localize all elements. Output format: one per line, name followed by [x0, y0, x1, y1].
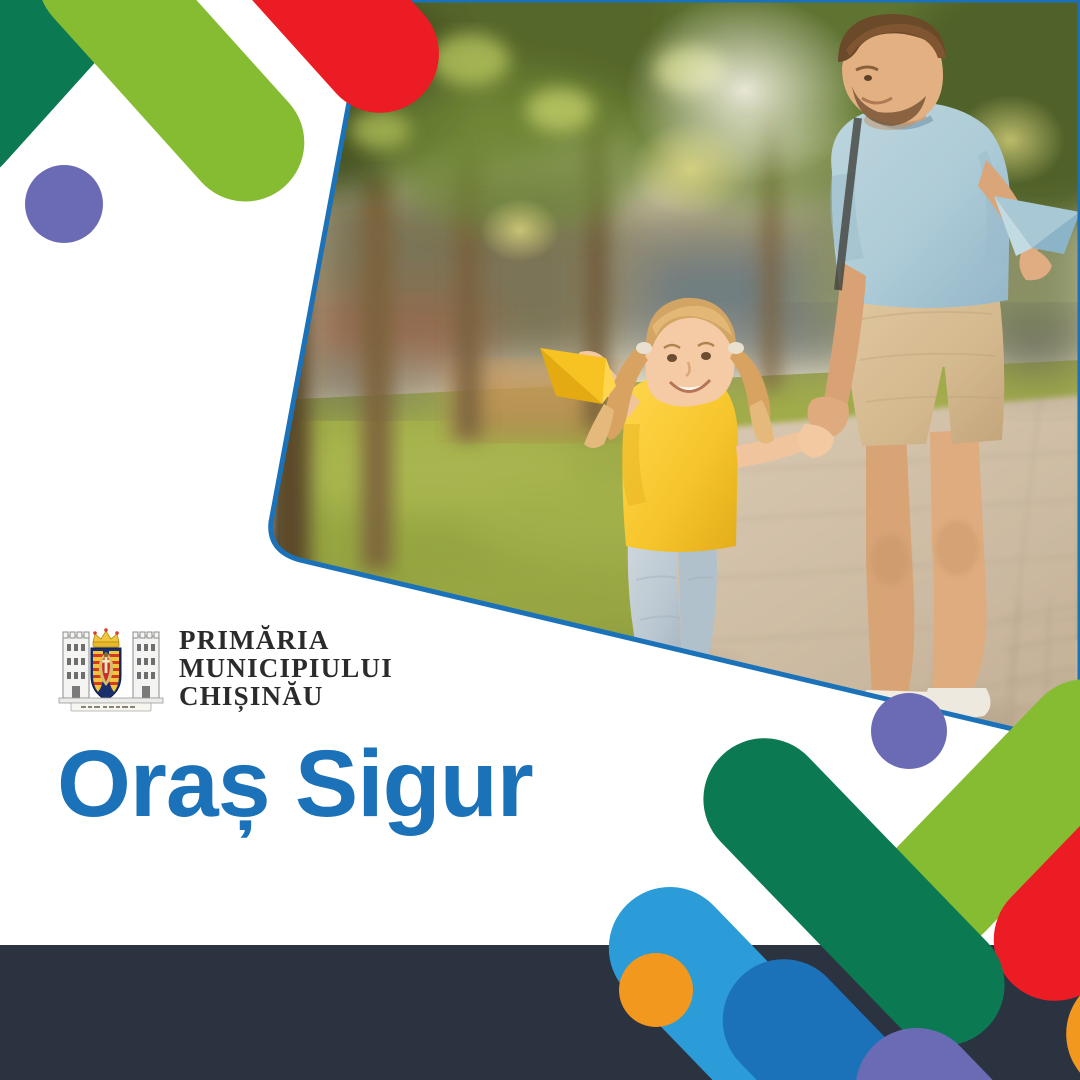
crest-tower-left [63, 632, 89, 698]
crest-shield [91, 648, 121, 700]
brand-name: PRIMĂRIA MUNICIPIULUI CHIȘINĂU [179, 626, 393, 710]
chisinau-coat-of-arms-icon [57, 624, 165, 712]
crest-tower-right [133, 632, 159, 698]
brand-line-1: PRIMĂRIA [179, 626, 393, 654]
hero-photo [0, 0, 1080, 1080]
crest-plinth [59, 698, 163, 703]
brand-logo: PRIMĂRIA MUNICIPIULUI CHIȘINĂU [57, 624, 393, 712]
brand-line-2: MUNICIPIULUI [179, 654, 393, 682]
crest-crown [93, 628, 119, 647]
poster-canvas: PRIMĂRIA MUNICIPIULUI CHIȘINĂU Oraș Sigu… [0, 0, 1080, 1080]
page-title: Oraș Sigur [57, 737, 533, 832]
brand-line-3: CHIȘINĂU [179, 682, 393, 710]
bottom-dark-band [0, 945, 1080, 1080]
